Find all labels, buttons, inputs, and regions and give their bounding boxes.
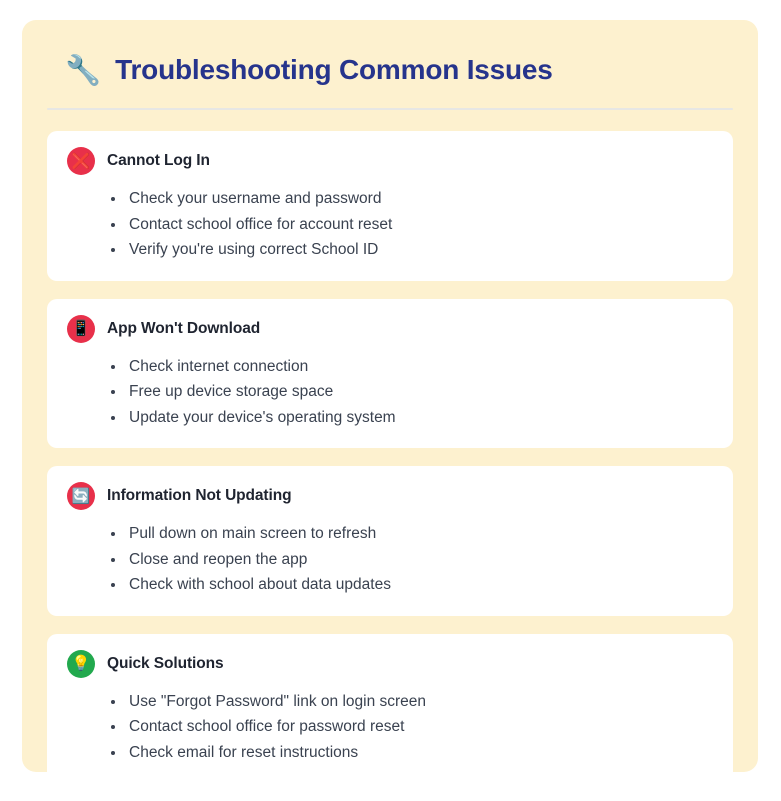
page-root: 🔧 Troubleshooting Common Issues ❌ Cannot… (0, 0, 781, 801)
issue-card-information-not-updating: 🔄 Information Not Updating Pull down on … (47, 466, 733, 616)
card-header: 📱 App Won't Download (67, 315, 713, 343)
issue-card-quick-solutions: 💡 Quick Solutions Use "Forgot Password" … (47, 634, 733, 784)
list-item: Use "Forgot Password" link on login scre… (111, 689, 713, 715)
header-divider (47, 108, 733, 110)
issue-card-app-wont-download: 📱 App Won't Download Check internet conn… (47, 299, 733, 449)
list-item: Contact school office for account reset (111, 212, 713, 238)
card-header: ❌ Cannot Log In (67, 147, 713, 175)
card-header: 🔄 Information Not Updating (67, 482, 713, 510)
card-header: 💡 Quick Solutions (67, 650, 713, 678)
refresh-arrows-glyph: 🔄 (72, 489, 91, 504)
list-item: Pull down on main screen to refresh (111, 521, 713, 547)
mobile-phone-glyph: 📱 (72, 321, 91, 336)
page-title: Troubleshooting Common Issues (115, 54, 553, 86)
light-bulb-icon: 💡 (67, 650, 95, 678)
list-item: Update your device's operating system (111, 405, 713, 431)
issue-card-cannot-log-in: ❌ Cannot Log In Check your username and … (47, 131, 733, 281)
list-item: Contact school office for password reset (111, 714, 713, 740)
wrench-icon: 🔧 (65, 57, 101, 86)
card-bullet-list: Use "Forgot Password" link on login scre… (67, 689, 713, 766)
issue-card-list: ❌ Cannot Log In Check your username and … (47, 131, 733, 783)
list-item: Check internet connection (111, 354, 713, 380)
list-item: Check email for reset instructions (111, 740, 713, 766)
card-title: Quick Solutions (107, 655, 223, 673)
card-title: Information Not Updating (107, 487, 291, 505)
card-bullet-list: Pull down on main screen to refresh Clos… (67, 521, 713, 598)
light-bulb-glyph: 💡 (72, 656, 91, 671)
card-bullet-list: Check your username and password Contact… (67, 186, 713, 263)
list-item: Free up device storage space (111, 379, 713, 405)
panel-header: 🔧 Troubleshooting Common Issues (47, 44, 733, 96)
list-item: Check your username and password (111, 186, 713, 212)
cross-mark-icon: ❌ (67, 147, 95, 175)
card-bullet-list: Check internet connection Free up device… (67, 354, 713, 431)
card-title: App Won't Download (107, 320, 260, 338)
list-item: Verify you're using correct School ID (111, 237, 713, 263)
mobile-phone-icon: 📱 (67, 315, 95, 343)
list-item: Check with school about data updates (111, 572, 713, 598)
refresh-arrows-icon: 🔄 (67, 482, 95, 510)
cross-mark-glyph: ❌ (72, 154, 91, 169)
card-title: Cannot Log In (107, 152, 210, 170)
troubleshooting-panel: 🔧 Troubleshooting Common Issues ❌ Cannot… (22, 20, 758, 772)
list-item: Close and reopen the app (111, 547, 713, 573)
